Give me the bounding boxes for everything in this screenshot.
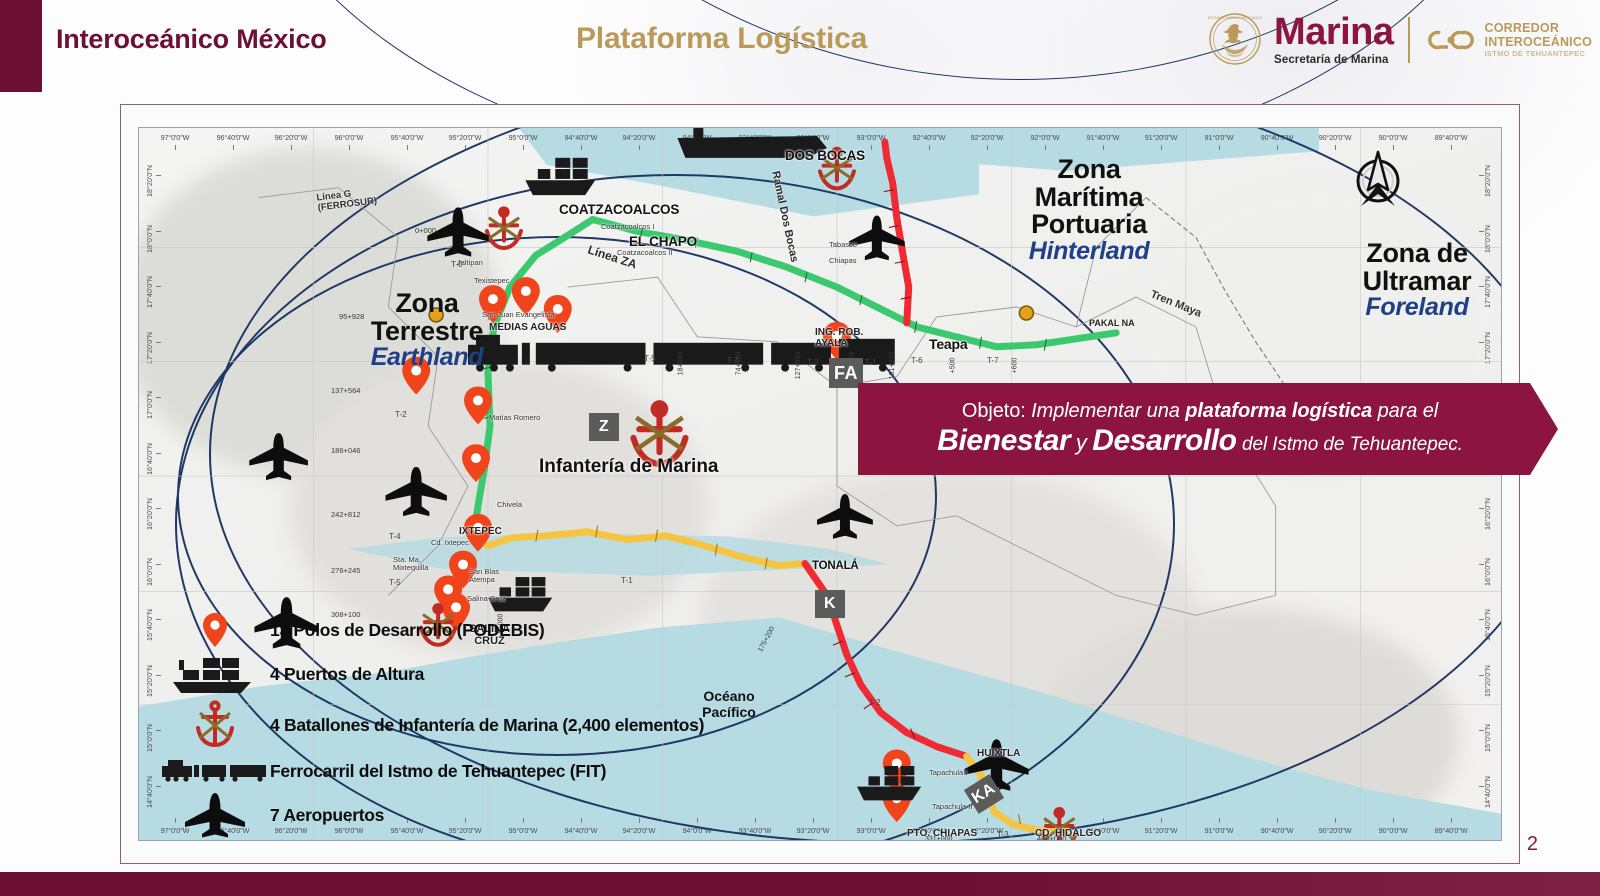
latitude-tick-label: 14°40'0"N: [1483, 776, 1492, 808]
latitude-tick: [1479, 231, 1484, 232]
longitude-tick: [871, 818, 872, 823]
airplane-icon: [160, 792, 270, 838]
city-label-teapa: Teapa: [929, 336, 967, 352]
latitude-tick: [1479, 342, 1484, 343]
map-legend: 13 Polos de Desarrollo (PODEBIS) 4 Puert…: [160, 612, 704, 844]
segment-label: T-2: [395, 410, 407, 419]
axis-latitude-left: 18°20'0"N18°0'0"N17°40'0"N17°20'0"N17°0'…: [139, 128, 161, 840]
anchor-icon: [487, 208, 521, 248]
axis-longitude-top: 97°0'0"W96°40'0"W96°20'0"W96°0'0"W95°40'…: [139, 128, 1501, 150]
segment-label: T-3: [997, 830, 1009, 839]
slide-canvas: Interoceánico México Plataforma Logístic…: [0, 0, 1600, 896]
latitude-tick: [156, 508, 161, 509]
city-label-sta-ma-mixtequilla: Sta. Ma.Mixtequilla: [393, 556, 428, 571]
objective-banner: Objeto: Implementar una plataforma logís…: [858, 383, 1558, 475]
latitude-tick-label: 15°40'0"N: [1483, 609, 1492, 641]
longitude-tick: [755, 818, 756, 823]
latitude-tick: [156, 286, 161, 287]
longitude-tick: [987, 145, 988, 150]
km-marker-vertical: 74+500: [735, 352, 742, 376]
legend-label-podebis: 13 Polos de Desarrollo (PODEBIS): [270, 621, 544, 640]
legend-label-ferrocarril: Ferrocarril del Istmo de Tehuantepec (FI…: [270, 762, 606, 781]
longitude-tick: [697, 145, 698, 150]
longitude-tick-label: 95°40'0"W: [391, 133, 424, 142]
km-marker: 95+928: [339, 312, 364, 321]
segment-label: T-2: [869, 698, 881, 707]
latitude-tick: [1479, 175, 1484, 176]
longitude-tick-label: 91°20'0"W: [1145, 133, 1178, 142]
latitude-tick-label: 15°20'0"N: [145, 665, 154, 697]
logo-divider: [1408, 17, 1410, 63]
legend-label-batallones: 4 Batallones de Infantería de Marina (2,…: [270, 716, 704, 735]
objective-tail: del Istmo de Tehuantepec.: [1242, 434, 1463, 455]
longitude-tick: [1045, 818, 1046, 823]
cargo-ship-icon: [160, 654, 270, 694]
train-icon: [160, 756, 270, 786]
zone-ultramar-en: Foreland: [1317, 295, 1502, 321]
longitude-tick: [465, 145, 466, 150]
longitude-tick-label: 93°40'0"W: [739, 826, 772, 835]
longitude-tick: [929, 145, 930, 150]
infanteria-de-marina-label: Infantería de Marina: [539, 456, 719, 478]
latitude-tick-label: 15°20'0"N: [1483, 665, 1492, 697]
longitude-tick: [1103, 145, 1104, 150]
latitude-tick-label: 15°0'0"N: [1483, 724, 1492, 752]
city-label-pakal-na: PAKAL NA: [1089, 318, 1135, 328]
longitude-tick: [813, 818, 814, 823]
longitude-tick: [407, 145, 408, 150]
longitude-tick-label: 93°20'0"W: [797, 133, 830, 142]
city-label-chivela: Chivela: [497, 500, 522, 509]
longitude-tick-label: 94°0'0"W: [683, 133, 712, 142]
longitude-tick: [1103, 818, 1104, 823]
longitude-tick: [1219, 818, 1220, 823]
latitude-tick-label: 17°40'0"N: [145, 276, 154, 308]
page-title-left: Interoceánico México: [56, 24, 327, 55]
marina-wordmark: Marina Secretaría de Marina: [1274, 14, 1393, 65]
city-label-san-juan-evangelista: San Juan Evangelista: [482, 310, 555, 319]
marina-subtitle: Secretaría de Marina: [1274, 54, 1389, 66]
zone-maritima-line2: Marítima: [979, 184, 1199, 212]
city-label-san-blas-atempa: San BlasAtempa: [469, 568, 499, 583]
cii-line3: ISTMO DE TEHUANTEPEC: [1485, 50, 1592, 58]
zone-terrestre-en: Earthland: [337, 345, 517, 371]
longitude-tick-label: 94°20'0"W: [623, 133, 656, 142]
longitude-tick-label: 91°0'0"W: [1205, 133, 1234, 142]
cii-line2: INTEROCEÁNICO: [1485, 36, 1592, 49]
legend-item-podebis: 13 Polos de Desarrollo (PODEBIS): [160, 612, 704, 648]
longitude-tick: [523, 145, 524, 150]
km-marker: 448+000: [1037, 834, 1066, 841]
longitude-tick: [1161, 818, 1162, 823]
city-label-el-chapo: EL CHAPO: [629, 234, 697, 249]
latitude-tick: [1479, 730, 1484, 731]
longitude-tick-label: 90°0'0"W: [1379, 133, 1408, 142]
city-label-medias-aguas: MEDIAS AGUAS: [489, 322, 566, 333]
latitude-tick: [1479, 564, 1484, 565]
longitude-tick: [1219, 145, 1220, 150]
logo-cluster: ESTADOS UNIDOS MEXICANOS Marina Secretar…: [1206, 8, 1592, 72]
longitude-tick: [871, 145, 872, 150]
latitude-tick-label: 16°40'0"N: [145, 443, 154, 475]
mexico-eagle-seal-icon: ESTADOS UNIDOS MEXICANOS: [1206, 12, 1264, 68]
longitude-tick-label: 90°40'0"W: [1261, 133, 1294, 142]
city-label-huixtla: HUIXTLA: [977, 748, 1020, 759]
city-label-ing-rob-ayala: ING. ROB.AYALA: [815, 328, 863, 349]
legend-item-puertos: 4 Puertos de Altura: [160, 654, 704, 694]
longitude-tick-label: 89°40'0"W: [1435, 826, 1468, 835]
city-label-coatzacoalcos: COATZACOALCOS: [559, 202, 679, 217]
page-title-center: Plataforma Logística: [576, 22, 867, 56]
corredor-interoceanico-infinity-icon: [1424, 25, 1478, 55]
zone-label-maritima: Zona Marítima Portuaria Hinterland: [979, 156, 1199, 264]
latitude-tick: [1479, 508, 1484, 509]
longitude-tick: [755, 145, 756, 150]
segment-label: T-1: [865, 358, 877, 367]
legend-item-batallones: 4 Batallones de Infantería de Marina (2,…: [160, 700, 704, 750]
zone-maritima-en: Hinterland: [979, 239, 1199, 265]
latitude-tick: [156, 564, 161, 565]
longitude-tick-label: 91°40'0"W: [1087, 133, 1120, 142]
segment-label: T-2: [807, 358, 819, 367]
objective-prefix: Objeto:: [962, 400, 1026, 422]
km-marker: 331+000: [925, 836, 952, 841]
badge-k[interactable]: K: [815, 590, 845, 618]
anchor-icon: [160, 700, 270, 750]
svg-text:ESTADOS UNIDOS MEXICANOS: ESTADOS UNIDOS MEXICANOS: [1208, 16, 1263, 20]
segment-label: T-5: [644, 354, 656, 363]
latitude-tick: [156, 397, 161, 398]
objective-l1-strong: plataforma logística: [1185, 400, 1372, 422]
longitude-tick-label: 96°40'0"W: [217, 133, 250, 142]
latitude-tick-label: 16°0'0"N: [145, 558, 154, 586]
latitude-tick-label: 16°0'0"N: [1483, 558, 1492, 586]
km-marker-vertical: 18+000: [677, 352, 684, 376]
legend-label-batallones-line1: 4 Batallones de Infantería de Marina (2,…: [270, 715, 704, 735]
longitude-tick-label: 96°20'0"W: [275, 133, 308, 142]
longitude-tick: [1335, 145, 1336, 150]
km-marker: 0+000: [415, 226, 436, 235]
city-label-salina-cruz-small: Salina Cruz: [467, 594, 506, 603]
objective-l1a: Implementar una: [1031, 400, 1180, 422]
longitude-tick: [929, 818, 930, 823]
state-label-chiapas: Chiapas: [829, 256, 857, 265]
latitude-tick-label: 18°20'0"N: [1483, 165, 1492, 197]
zone-ultramar-line2: Ultramar: [1317, 268, 1502, 296]
km-marker: 137+564: [331, 386, 360, 395]
zone-label-ultramar: Zona de Ultramar Foreland: [1317, 240, 1502, 321]
marina-word: Marina: [1274, 14, 1393, 50]
longitude-tick: [175, 145, 176, 150]
longitude-tick-label: 93°0'0"W: [857, 133, 886, 142]
objective-y: y: [1076, 430, 1087, 455]
legend-item-ferrocarril: Ferrocarril del Istmo de Tehuantepec (FI…: [160, 756, 704, 786]
city-label-dos-bocas: DOS BOCAS: [785, 148, 865, 163]
objective-line2: Bienestar y Desarrollo del Istmo de Tehu…: [888, 423, 1512, 460]
longitude-tick-label: 90°40'0"W: [1261, 826, 1294, 835]
longitude-tick-label: 93°20'0"W: [797, 826, 830, 835]
segment-label: T-7: [987, 356, 999, 365]
segment-label: T-0: [451, 260, 463, 269]
objective-line1: Objeto: Implementar una plataforma logís…: [888, 399, 1512, 423]
badge-z[interactable]: Z: [589, 413, 619, 441]
longitude-tick-label: 92°40'0"W: [913, 133, 946, 142]
latitude-tick: [156, 453, 161, 454]
legend-label-puertos: 4 Puertos de Altura: [270, 665, 424, 684]
longitude-tick-label: 90°20'0"W: [1319, 133, 1352, 142]
longitude-tick-label: 95°0'0"W: [509, 133, 538, 142]
km-marker-vertical: 127+000: [795, 352, 802, 379]
city-label-coatzacoalcos-i: Coatzacoalcos I: [601, 222, 654, 231]
legend-item-aeropuertos: 7 Aeropuertos: [160, 792, 704, 838]
latitude-tick-label: 16°20'0"N: [145, 498, 154, 530]
longitude-tick-label: 91°20'0"W: [1145, 826, 1178, 835]
longitude-tick-label: 91°0'0"W: [1205, 826, 1234, 835]
longitude-tick: [1451, 145, 1452, 150]
longitude-tick-label: 97°0'0"W: [161, 133, 190, 142]
latitude-tick-label: 18°20'0"N: [145, 165, 154, 197]
longitude-tick: [1335, 818, 1336, 823]
latitude-tick: [156, 231, 161, 232]
segment-label: T-6: [911, 356, 923, 365]
axis-latitude-right: 18°20'0"N18°0'0"N17°40'0"N17°20'0"N17°0'…: [1479, 128, 1501, 840]
map-pin-icon: [160, 612, 270, 648]
longitude-tick: [1045, 145, 1046, 150]
airplane-icon: [849, 216, 905, 261]
longitude-tick-label: 90°0'0"W: [1379, 826, 1408, 835]
longitude-tick-label: 95°20'0"W: [449, 133, 482, 142]
longitude-tick-label: 90°20'0"W: [1319, 826, 1352, 835]
page-number: 2: [1527, 833, 1538, 856]
longitude-tick-label: 94°40'0"W: [565, 133, 598, 142]
segment-label: T-1: [621, 576, 633, 585]
km-marker-vertical: +500: [949, 358, 956, 374]
latitude-tick-label: 17°0'0"N: [145, 391, 154, 419]
objective-l1b: para el: [1378, 400, 1438, 422]
latitude-tick-label: 14°40'0"N: [145, 776, 154, 808]
bottom-maroon-sash: [0, 872, 1600, 896]
longitude-tick: [1161, 145, 1162, 150]
city-label-tapachula-i: Tapachula I: [929, 768, 967, 777]
km-marker-vertical: 181+200: [889, 352, 896, 379]
longitude-tick: [1451, 818, 1452, 823]
latitude-tick-label: 18°0'0"N: [145, 225, 154, 253]
segment-label: T-4: [389, 532, 401, 541]
latitude-tick-label: 17°20'0"N: [1483, 332, 1492, 364]
latitude-tick: [1479, 786, 1484, 787]
km-marker: 276+245: [331, 566, 360, 575]
longitude-tick-label: 92°20'0"W: [971, 133, 1004, 142]
longitude-tick: [233, 145, 234, 150]
longitude-tick: [1277, 145, 1278, 150]
latitude-tick: [1479, 675, 1484, 676]
longitude-tick-label: 89°40'0"W: [1435, 133, 1468, 142]
km-marker: 242+812: [331, 510, 360, 519]
legend-label-aeropuertos: 7 Aeropuertos: [270, 806, 384, 825]
longitude-tick: [291, 145, 292, 150]
compass-rose-north-icon: [1347, 150, 1409, 212]
city-label-texistepec: Texistepec: [474, 276, 509, 285]
longitude-tick: [1393, 818, 1394, 823]
city-label-tapachula-ii: Tapachula II: [932, 802, 972, 811]
latitude-tick-label: 15°0'0"N: [145, 724, 154, 752]
zone-maritima-line3: Portuaria: [979, 211, 1199, 239]
longitude-tick: [639, 145, 640, 150]
objective-bienestar: Bienestar: [937, 424, 1070, 457]
zone-ultramar-line1: Zona de: [1317, 240, 1502, 268]
latitude-tick-label: 17°20'0"N: [145, 332, 154, 364]
longitude-tick: [987, 818, 988, 823]
city-label-matias-romero: Matías Romero: [489, 413, 540, 422]
latitude-tick: [156, 175, 161, 176]
longitude-tick-label: 93°40'0"W: [739, 133, 772, 142]
longitude-tick: [349, 145, 350, 150]
corredor-interoceanico-logo: CORREDOR INTEROCEÁNICO ISTMO DE TEHUANTE…: [1424, 22, 1592, 57]
latitude-tick: [1479, 619, 1484, 620]
city-label-tonala: TONALÁ: [812, 560, 859, 572]
km-marker-vertical: +600: [1011, 358, 1018, 374]
latitude-tick-label: 16°20'0"N: [1483, 498, 1492, 530]
badge-fa[interactable]: FA: [829, 358, 863, 388]
longitude-tick-label: 93°0'0"W: [857, 826, 886, 835]
longitude-tick: [581, 145, 582, 150]
km-marker: 186+046: [331, 446, 360, 455]
longitude-tick: [1277, 818, 1278, 823]
cii-line1: CORREDOR: [1485, 22, 1592, 35]
zone-maritima-line1: Zona: [979, 156, 1199, 184]
city-label-ixtepec: IXTEPEC: [459, 526, 502, 537]
city-label-cd-ixtepec: Cd. Ixtepec: [431, 538, 469, 547]
objective-desarrollo: Desarrollo: [1092, 424, 1236, 457]
latitude-tick-label: 15°40'0"N: [145, 609, 154, 641]
longitude-tick-label: 96°0'0"W: [335, 133, 364, 142]
state-label-tabasco: Tabasco: [829, 240, 857, 249]
latitude-tick: [156, 342, 161, 343]
segment-label: T-5: [389, 578, 401, 587]
left-maroon-sash: [0, 0, 42, 92]
longitude-tick-label: 92°0'0"W: [1031, 133, 1060, 142]
